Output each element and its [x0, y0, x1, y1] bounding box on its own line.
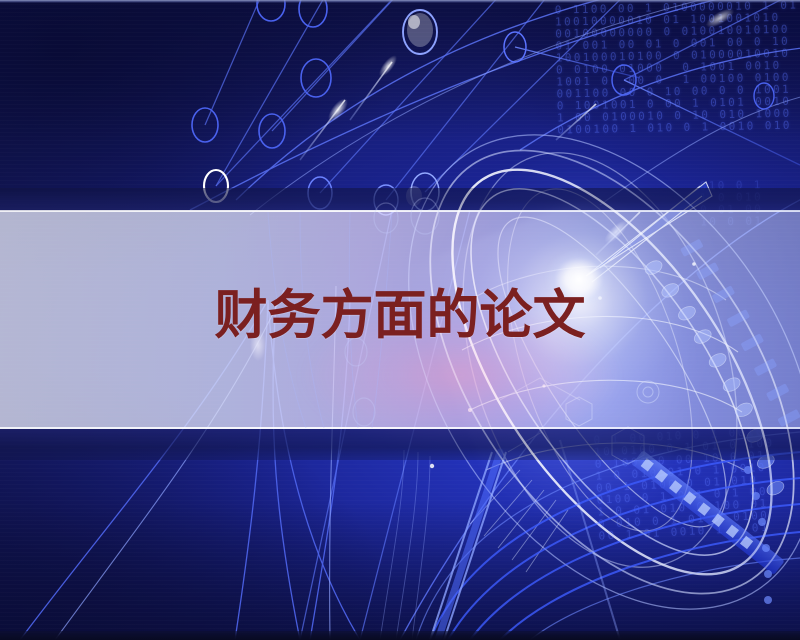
page-title: 财务方面的论文	[0, 286, 800, 346]
title-slide: 0 1100 00 1 0100000010 1 01 10010000010 …	[0, 0, 800, 640]
bottom-strip	[0, 631, 800, 640]
top-hairline	[0, 0, 800, 3]
